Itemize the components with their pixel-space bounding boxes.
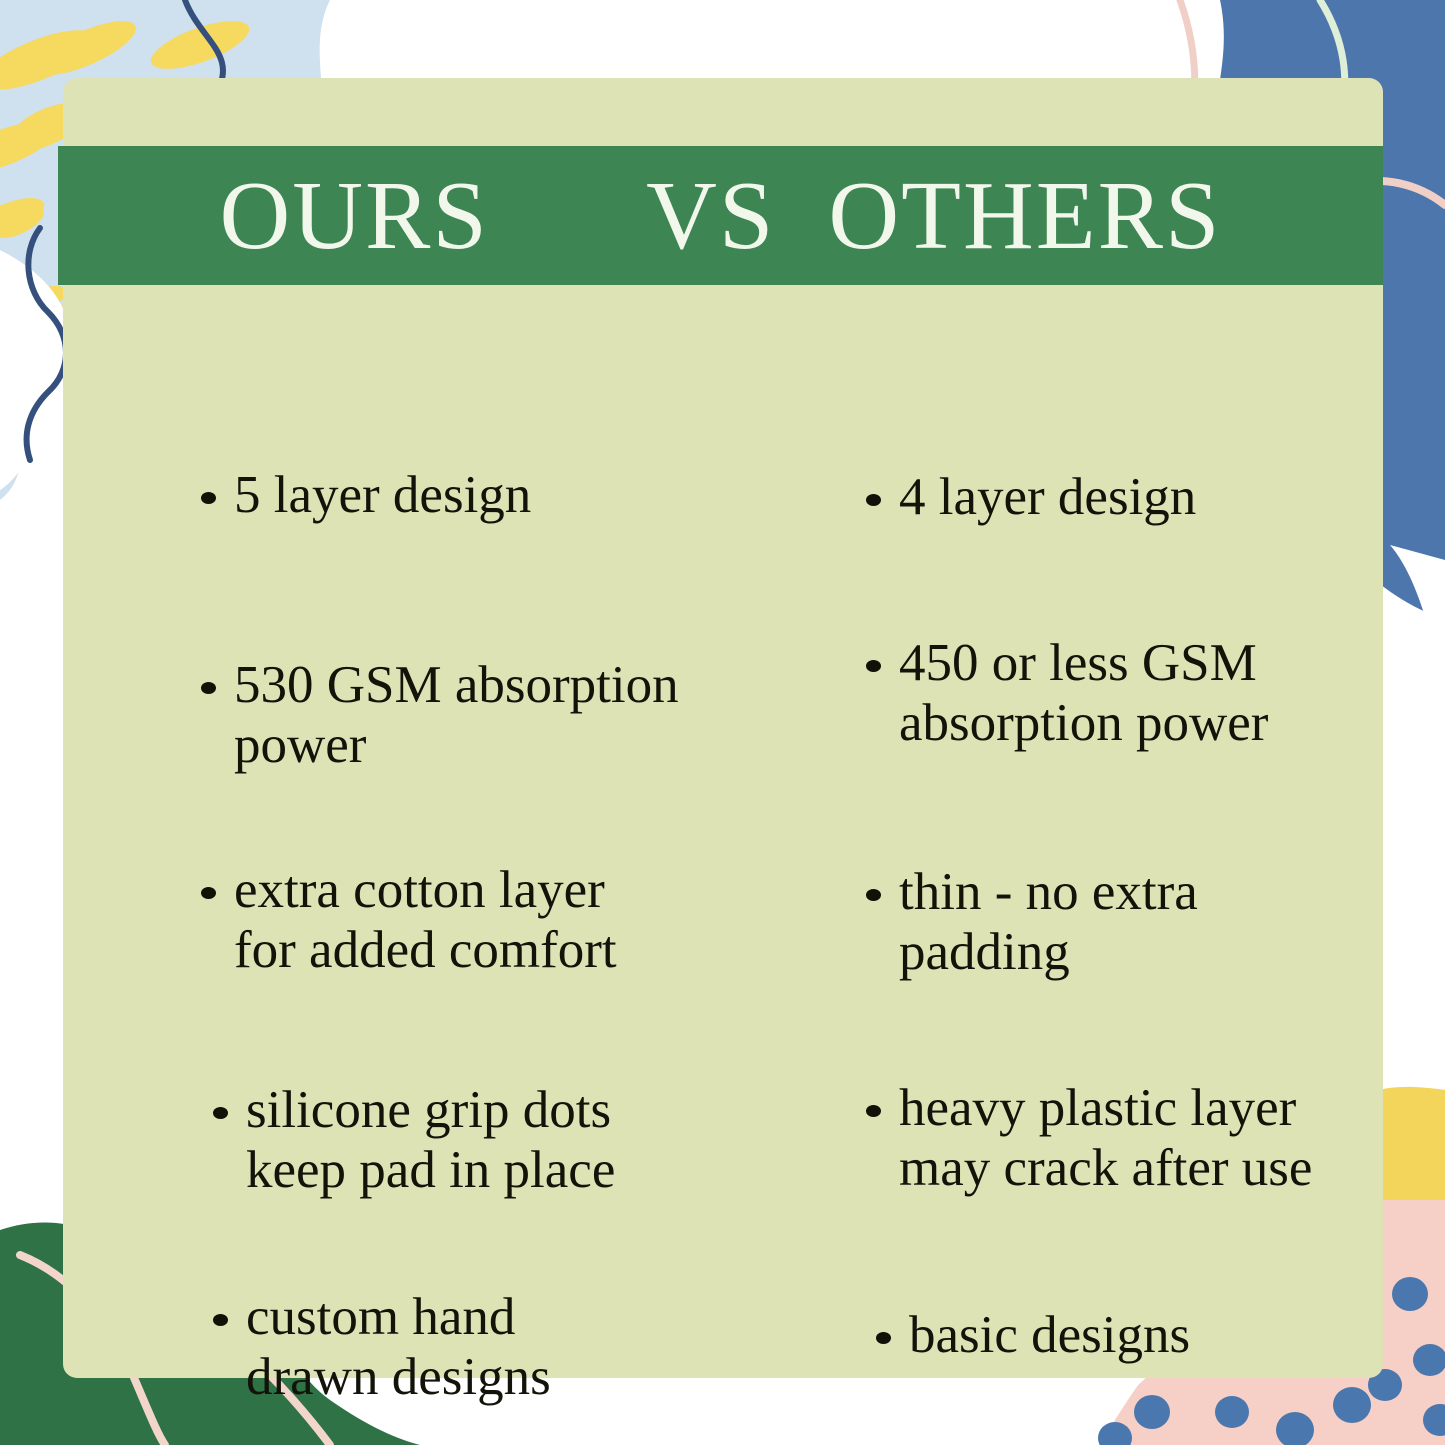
list-item: heavy plastic layer may crack after use — [866, 1079, 1312, 1199]
polka-dot — [1215, 1396, 1249, 1428]
list-item-label: extra cotton layer for added comfort — [234, 861, 617, 981]
bullet-dot-icon — [213, 1314, 228, 1326]
bullet-dot-icon — [201, 887, 216, 899]
list-item-label: 530 GSM absorption power — [234, 656, 679, 776]
list-item: custom hand drawn designs — [213, 1288, 551, 1408]
bullet-dot-icon — [866, 494, 881, 506]
list-item: 450 or less GSM absorption power — [866, 634, 1268, 754]
bullet-dot-icon — [213, 1107, 228, 1119]
page-title: OURS VS OTHERS — [219, 167, 1221, 265]
polka-dot — [1134, 1395, 1170, 1429]
comparison-card: OURS VS OTHERS 5 layer design530 GSM abs… — [63, 78, 1383, 1378]
polka-dot — [1392, 1277, 1428, 1311]
bullet-dot-icon — [866, 1105, 881, 1117]
list-item-label: basic designs — [909, 1306, 1190, 1366]
list-item: 530 GSM absorption power — [201, 656, 679, 776]
list-item-label: silicone grip dots keep pad in place — [246, 1081, 615, 1201]
list-item-label: custom hand drawn designs — [246, 1288, 551, 1408]
list-item: 5 layer design — [201, 466, 531, 526]
polka-dot — [1333, 1387, 1371, 1423]
list-item-label: 4 layer design — [899, 468, 1196, 528]
list-item: thin - no extra padding — [866, 863, 1198, 983]
list-item-label: 450 or less GSM absorption power — [899, 634, 1268, 754]
bullet-dot-icon — [866, 889, 881, 901]
list-item-label: 5 layer design — [234, 466, 531, 526]
list-item-label: thin - no extra padding — [899, 863, 1198, 983]
bullet-dot-icon — [876, 1332, 891, 1344]
header-band: OURS VS OTHERS — [58, 146, 1383, 285]
list-item: silicone grip dots keep pad in place — [213, 1081, 615, 1201]
list-item-label: heavy plastic layer may crack after use — [899, 1079, 1312, 1199]
bullet-dot-icon — [201, 492, 216, 504]
list-item: 4 layer design — [866, 468, 1196, 528]
list-item: basic designs — [876, 1306, 1190, 1366]
bullet-dot-icon — [866, 660, 881, 672]
bullet-dot-icon — [201, 682, 216, 694]
list-item: extra cotton layer for added comfort — [201, 861, 617, 981]
